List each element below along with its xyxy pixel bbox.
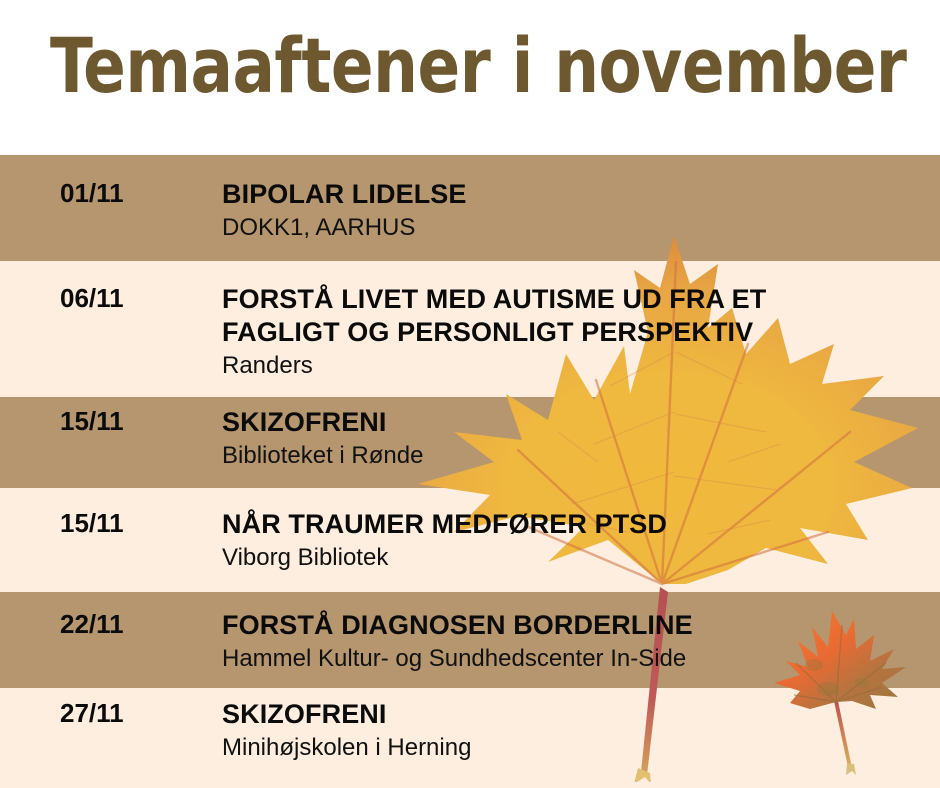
event-title: SKIZOFRENI bbox=[222, 698, 930, 731]
event-date: 15/11 bbox=[60, 508, 210, 539]
event-body: FORSTÅ LIVET MED AUTISME UD FRA ET FAGLI… bbox=[222, 283, 930, 381]
event-row[interactable]: 15/11NÅR TRAUMER MEDFØRER PTSDViborg Bib… bbox=[0, 508, 940, 612]
event-date: 27/11 bbox=[60, 698, 210, 729]
event-venue: Viborg Bibliotek bbox=[222, 543, 930, 573]
event-body: BIPOLAR LIDELSEDOKK1, AARHUS bbox=[222, 178, 930, 243]
event-title: BIPOLAR LIDELSE bbox=[222, 178, 930, 211]
event-row[interactable]: 01/11BIPOLAR LIDELSEDOKK1, AARHUS bbox=[0, 178, 940, 284]
poster-header: Temaaftener i november bbox=[0, 0, 940, 155]
event-title: NÅR TRAUMER MEDFØRER PTSD bbox=[222, 508, 930, 541]
event-body: SKIZOFRENIMinihøjskolen i Herning bbox=[222, 698, 930, 763]
event-date: 22/11 bbox=[60, 609, 210, 640]
event-date: 01/11 bbox=[60, 178, 210, 209]
event-row[interactable]: 22/11FORSTÅ DIAGNOSEN BORDERLINEHammel K… bbox=[0, 609, 940, 705]
page-title: Temaaftener i november bbox=[50, 28, 907, 104]
event-title: FORSTÅ DIAGNOSEN BORDERLINE bbox=[222, 609, 930, 642]
event-date: 06/11 bbox=[60, 283, 210, 314]
event-title: SKIZOFRENI bbox=[222, 406, 930, 439]
poster-canvas: Temaaftener i november 01/11BIPOLAR LIDE… bbox=[0, 0, 940, 788]
event-title: FORSTÅ LIVET MED AUTISME UD FRA ET FAGLI… bbox=[222, 283, 930, 349]
event-row[interactable]: 15/11SKIZOFRENIBiblioteket i Rønde bbox=[0, 406, 940, 497]
event-venue: Minihøjskolen i Herning bbox=[222, 733, 930, 763]
event-date: 15/11 bbox=[60, 406, 210, 437]
event-body: NÅR TRAUMER MEDFØRER PTSDViborg Bibliote… bbox=[222, 508, 930, 573]
event-row[interactable]: 06/11FORSTÅ LIVET MED AUTISME UD FRA ET … bbox=[0, 283, 940, 419]
event-venue: Biblioteket i Rønde bbox=[222, 441, 930, 471]
event-venue: Randers bbox=[222, 351, 930, 381]
event-venue: DOKK1, AARHUS bbox=[222, 213, 930, 243]
event-body: SKIZOFRENIBiblioteket i Rønde bbox=[222, 406, 930, 471]
event-venue: Hammel Kultur- og Sundhedscenter In-Side bbox=[222, 644, 930, 674]
event-body: FORSTÅ DIAGNOSEN BORDERLINEHammel Kultur… bbox=[222, 609, 930, 674]
event-row[interactable]: 27/11SKIZOFRENIMinihøjskolen i Herning bbox=[0, 698, 940, 788]
